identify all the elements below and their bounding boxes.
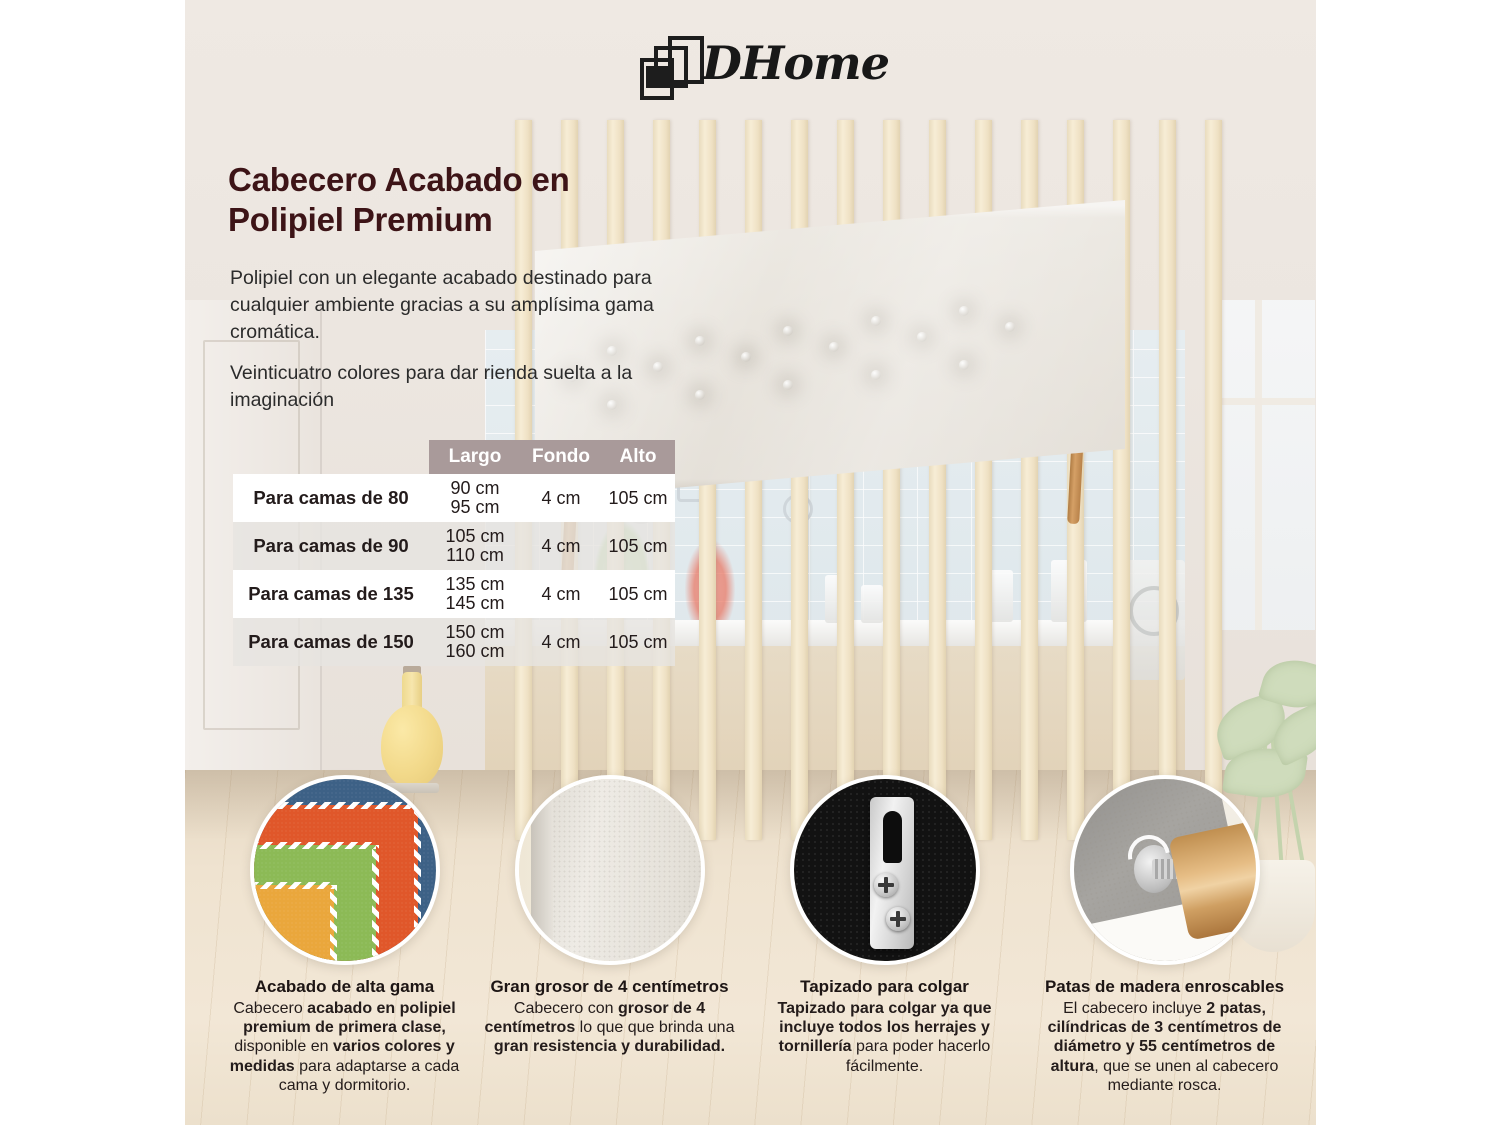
dimensions-table: Largo Fondo Alto Para camas de 80 90 cm … <box>233 440 675 666</box>
feature-acabado-alta-gama: Acabado de alta gama Cabecero acabado en… <box>213 775 476 1095</box>
cell-alto: 105 cm <box>601 488 675 509</box>
cell-fondo: 4 cm <box>521 536 601 557</box>
screw-icon <box>874 873 898 897</box>
wall-mount-bracket-icon <box>790 775 980 965</box>
table-row: Para camas de 80 90 cm 95 cm 4 cm 105 cm <box>233 474 675 522</box>
cell-largo-max: 110 cm <box>429 546 521 565</box>
column-header-largo: Largo <box>429 446 521 468</box>
infographic-canvas: DHome Cabecero Acabado en Polipiel Premi… <box>0 0 1500 1125</box>
feature-text: Cabecero con grosor de 4 centímetros lo … <box>478 999 741 1057</box>
cell-largo-min: 105 cm <box>429 527 521 546</box>
cell-largo: 105 cm 110 cm <box>429 527 521 566</box>
column-header-alto: Alto <box>601 446 675 468</box>
brand-logo[interactable]: DHome <box>640 32 880 102</box>
feature-title: Acabado de alta gama <box>213 977 476 997</box>
cell-fondo: 4 cm <box>521 488 601 509</box>
title-line-1: Cabecero Acabado en <box>228 160 698 200</box>
title-line-2: Polipiel Premium <box>228 200 698 240</box>
feature-patas-madera: Patas de madera enroscables El cabecero … <box>1033 775 1296 1095</box>
brand-name: DHome <box>702 36 889 90</box>
description-paragraph-2: Veinticuatro colores para dar rienda sue… <box>230 360 685 414</box>
table-row: Para camas de 135 135 cm 145 cm 4 cm 105… <box>233 570 675 618</box>
row-label: Para camas de 80 <box>233 487 429 509</box>
cell-largo-max: 145 cm <box>429 594 521 613</box>
row-label: Para camas de 150 <box>233 631 429 653</box>
wood-slat <box>1159 120 1176 840</box>
feature-text: Cabecero acabado en polipiel premium de … <box>213 999 476 1095</box>
feature-tapizado-colgar: Tapizado para colgar Tapizado para colga… <box>753 775 1016 1076</box>
table-header-row: Largo Fondo Alto <box>429 440 675 474</box>
feature-title: Gran grosor de 4 centímetros <box>478 977 741 997</box>
cell-largo: 90 cm 95 cm <box>429 479 521 518</box>
row-label: Para camas de 135 <box>233 583 429 605</box>
fabric-swatches-icon <box>250 775 440 965</box>
cell-largo-min: 150 cm <box>429 623 521 642</box>
feature-text: Tapizado para colgar ya que incluye todo… <box>753 999 1016 1076</box>
column-header-fondo: Fondo <box>521 446 601 468</box>
cell-largo: 135 cm 145 cm <box>429 575 521 614</box>
cell-fondo: 4 cm <box>521 632 601 653</box>
headboard-thickness-icon <box>515 775 705 965</box>
cell-largo-max: 95 cm <box>429 498 521 517</box>
table-row: Para camas de 150 150 cm 160 cm 4 cm 105… <box>233 618 675 666</box>
feature-title: Patas de madera enroscables <box>1033 977 1296 997</box>
swatch-yellow <box>250 885 334 965</box>
row-label: Para camas de 90 <box>233 535 429 557</box>
feature-gran-grosor: Gran grosor de 4 centímetros Cabecero co… <box>478 775 741 1057</box>
table-row: Para camas de 90 105 cm 110 cm 4 cm 105 … <box>233 522 675 570</box>
window-bar <box>1255 300 1262 630</box>
page-title: Cabecero Acabado en Polipiel Premium <box>228 160 698 241</box>
cell-largo: 150 cm 160 cm <box>429 623 521 662</box>
logo-square <box>668 36 704 84</box>
cell-largo-max: 160 cm <box>429 642 521 661</box>
cell-largo-min: 90 cm <box>429 479 521 498</box>
logo-square <box>646 66 668 88</box>
feature-title: Tapizado para colgar <box>753 977 1016 997</box>
cell-largo-min: 135 cm <box>429 575 521 594</box>
screw-in-wooden-leg-icon <box>1070 775 1260 965</box>
cell-alto: 105 cm <box>601 584 675 605</box>
product-description: Polipiel con un elegante acabado destina… <box>230 265 685 428</box>
description-paragraph-1: Polipiel con un elegante acabado destina… <box>230 265 685 346</box>
screw-icon <box>886 907 910 931</box>
cell-fondo: 4 cm <box>521 584 601 605</box>
cell-alto: 105 cm <box>601 632 675 653</box>
cell-alto: 105 cm <box>601 536 675 557</box>
kitchen-jar <box>861 585 883 623</box>
feature-text: El cabecero incluye 2 patas, cilíndricas… <box>1033 999 1296 1095</box>
